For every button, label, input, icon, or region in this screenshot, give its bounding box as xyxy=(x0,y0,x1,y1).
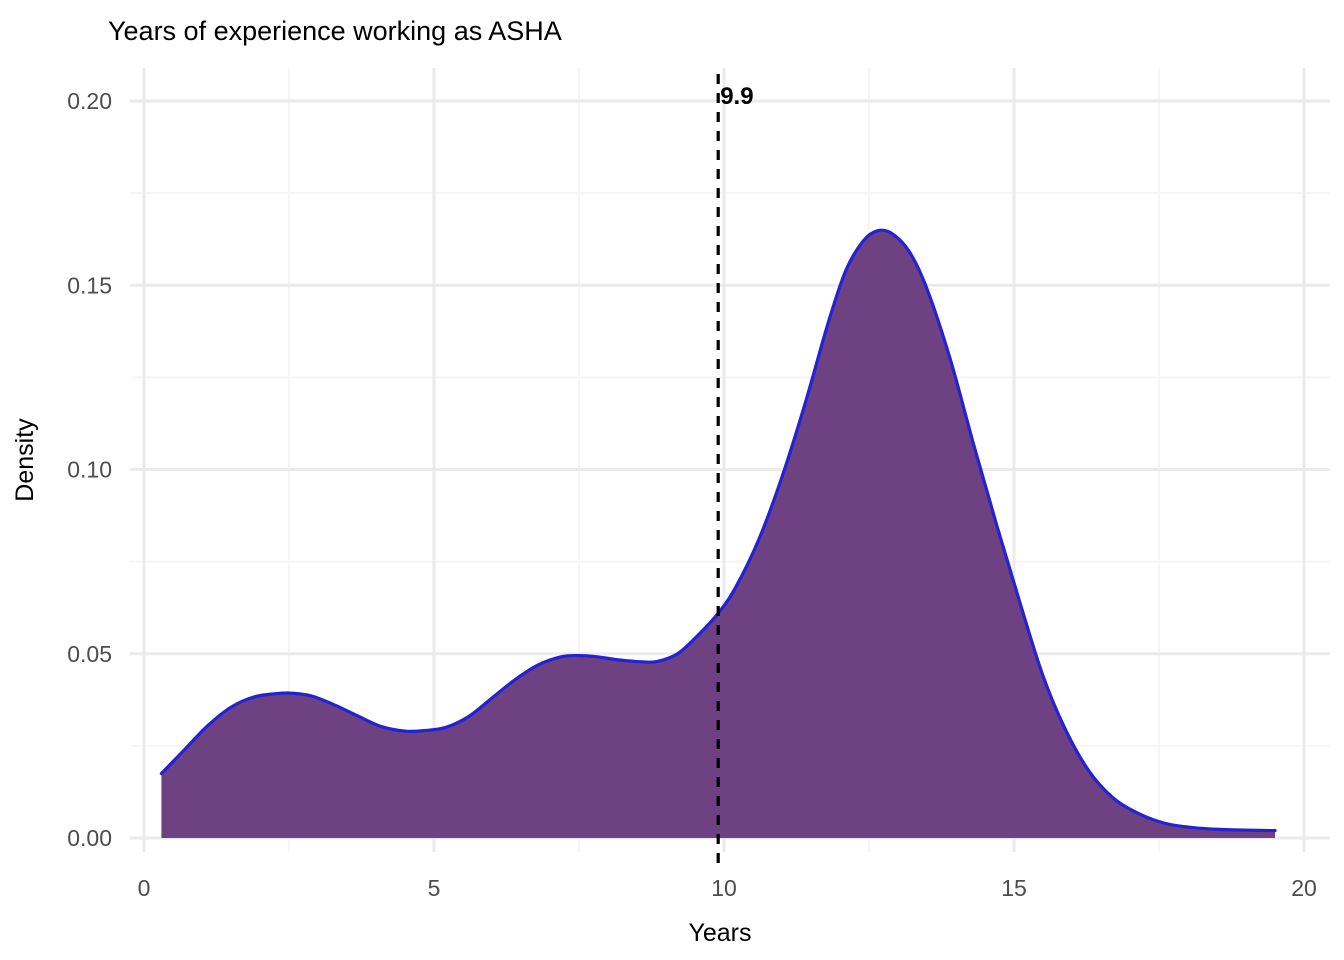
y-tick-label: 0.15 xyxy=(67,272,112,298)
y-tick-label: 0.00 xyxy=(67,825,112,851)
y-axis-title: Density xyxy=(11,418,39,502)
x-tick-label: 20 xyxy=(1291,875,1317,901)
x-axis-title: Years xyxy=(688,919,751,947)
x-tick-label: 10 xyxy=(711,875,737,901)
x-tick-label: 0 xyxy=(138,875,151,901)
y-axis-ticks: 0.000.050.100.150.20 xyxy=(67,88,112,851)
median-line-label: 9.9 xyxy=(720,83,753,110)
x-tick-label: 5 xyxy=(428,875,441,901)
y-tick-label: 0.20 xyxy=(67,88,112,114)
x-axis-ticks: 05101520 xyxy=(138,852,1317,901)
density-plot-figure: Years of experience working as ASHA 9.9 … xyxy=(0,0,1344,960)
x-tick-label: 15 xyxy=(1001,875,1027,901)
y-tick-label: 0.05 xyxy=(67,641,112,667)
y-tick-label: 0.10 xyxy=(67,457,112,483)
chart-canvas: 9.9 05101520 0.000.050.100.150.20 Years … xyxy=(0,0,1344,960)
